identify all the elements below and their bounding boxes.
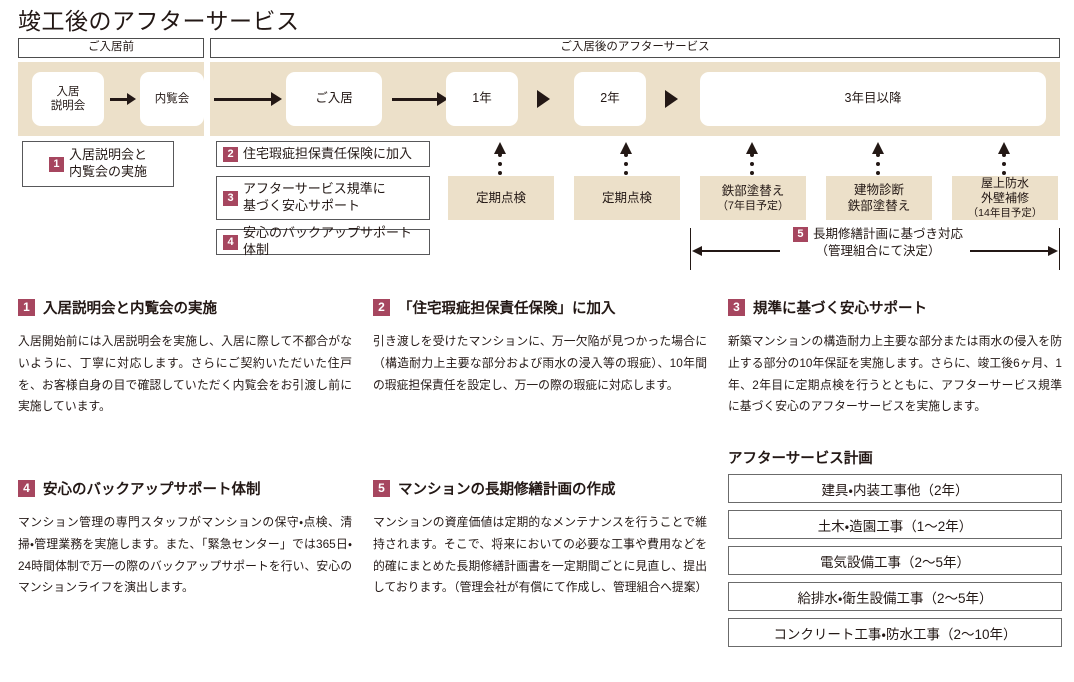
callout-text-1: 入居説明会と 内覧会の実施 [69, 147, 147, 181]
article-badge-4: 4 [18, 480, 35, 497]
article-5-heading: 5 マンションの長期修繕計画の作成 [373, 478, 707, 499]
timeline-node-move-in: ご入居 [286, 72, 382, 126]
span-badge-5: 5 [793, 227, 808, 242]
timeline-node-year-3-plus: 3年目以降 [700, 72, 1046, 126]
triangle-year1-to-year2 [537, 90, 550, 108]
article-1-heading-text: 入居説明会と内覧会の実施 [43, 297, 217, 318]
span-label-line1: 長期修繕計画に基づき対応 [813, 226, 963, 243]
callout-text-3: アフターサービス規準に 基づく安心サポート [243, 181, 386, 215]
maintenance-box-periodic-2: 定期点検 [574, 176, 680, 220]
article-3-heading: 3 規準に基づく安心サポート [728, 297, 1062, 318]
callout-badge-1: 1 [49, 157, 64, 172]
maintenance-box-diagnosis: 建物診断 鉄部塗替え [826, 176, 932, 220]
arrow-move-in-to-year1 [392, 93, 448, 105]
dotted-arrow-diagnosis [872, 142, 884, 176]
timeline-node-preview: 内覧会 [140, 72, 204, 126]
article-4: 4 安心のバックアップサポート体制 マンション管理の専門スタッフがマンションの保… [18, 478, 352, 599]
maintenance-box-roof-wall: 屋上防水 外壁補修 （14年目予定） [952, 176, 1058, 220]
article-1: 1 入居説明会と内覧会の実施 入居開始前には入居説明会を実施し、入居に際して不都… [18, 297, 352, 418]
maintenance-box-steel-repaint: 鉄部塗替え （7年目予定） [700, 176, 806, 220]
dotted-arrow-periodic-2 [620, 142, 632, 176]
long-term-repair-span: 5 長期修繕計画に基づき対応 （管理組合にて決定） [690, 228, 1060, 270]
article-5-body: マンションの資産価値は定期的なメンテナンスを行うことで維持されます。そこで、将来… [373, 512, 707, 599]
article-3: 3 規準に基づく安心サポート 新築マンションの構造耐力上主要な部分または雨水の侵… [728, 297, 1062, 418]
callout-badge-4: 4 [223, 235, 238, 250]
article-1-body: 入居開始前には入居説明会を実施し、入居に際して不都合がないように、丁寧に対応しま… [18, 331, 352, 418]
phase-header-bar: ご入居前 ご入居後のアフターサービス [18, 38, 1060, 58]
arrow-preview-to-move-in [214, 93, 282, 105]
timeline-node-year-2: 2年 [574, 72, 646, 126]
callout-badge-2: 2 [223, 147, 238, 162]
page-title: 竣工後のアフターサービス [18, 2, 300, 36]
arrow-briefing-to-preview [110, 93, 136, 105]
article-5-heading-text: マンションの長期修繕計画の作成 [398, 478, 616, 499]
span-tick-left [690, 228, 691, 270]
article-4-heading: 4 安心のバックアップサポート体制 [18, 478, 352, 499]
article-2-heading: 2 「住宅瑕疵担保責任保険」に加入 [373, 297, 707, 318]
dotted-arrow-periodic-1 [494, 142, 506, 176]
triangle-year2-to-year3 [665, 90, 678, 108]
article-2-body: 引き渡しを受けたマンションに、万一欠陥が見つかった場合に（構造耐力上主要な部分お… [373, 331, 707, 396]
dotted-arrow-roof-wall [998, 142, 1010, 176]
plan-item-2: 電気設備工事（2〜5年） [728, 546, 1062, 575]
article-2-heading-text: 「住宅瑕疵担保責任保険」に加入 [398, 297, 616, 318]
timeline-node-year-1: 1年 [446, 72, 518, 126]
article-4-heading-text: 安心のバックアップサポート体制 [43, 478, 261, 499]
plan-item-4: コンクリート工事・防水工事（2〜10年） [728, 618, 1062, 647]
callout-box-1: 1 入居説明会と 内覧会の実施 [22, 141, 174, 187]
callout-box-4: 4 安心のバックアップサポート体制 [216, 229, 430, 255]
article-badge-1: 1 [18, 299, 35, 316]
timeline-node-briefing: 入居 説明会 [32, 72, 104, 126]
callout-badge-3: 3 [223, 191, 238, 206]
article-badge-5: 5 [373, 480, 390, 497]
article-badge-3: 3 [728, 299, 745, 316]
span-tick-right [1059, 228, 1060, 270]
span-label-line2: （管理組合にて決定） [768, 243, 988, 260]
callout-text-2: 住宅瑕疵担保責任保険に加入 [243, 146, 412, 163]
phase-label-post-move-in: ご入居後のアフターサービス [210, 38, 1060, 58]
article-4-body: マンション管理の専門スタッフがマンションの保守・点検、清掃・管理業務を実施します… [18, 512, 352, 599]
article-3-body: 新築マンションの構造耐力上主要な部分または雨水の侵入を防止する部分の10年保証を… [728, 331, 1062, 418]
callout-box-2: 2 住宅瑕疵担保責任保険に加入 [216, 141, 430, 167]
plan-item-1: 土木・造園工事（1〜2年） [728, 510, 1062, 539]
callout-text-4: 安心のバックアップサポート体制 [243, 225, 423, 259]
article-3-heading-text: 規準に基づく安心サポート [753, 297, 927, 318]
maintenance-box-periodic-1: 定期点検 [448, 176, 554, 220]
article-2: 2 「住宅瑕疵担保責任保険」に加入 引き渡しを受けたマンションに、万一欠陥が見つ… [373, 297, 707, 396]
callout-box-3: 3 アフターサービス規準に 基づく安心サポート [216, 176, 430, 220]
plan-title: アフターサービス計画 [728, 447, 873, 468]
span-label: 5 長期修繕計画に基づき対応 （管理組合にて決定） [768, 226, 988, 260]
article-5: 5 マンションの長期修繕計画の作成 マンションの資産価値は定期的なメンテナンスを… [373, 478, 707, 599]
plan-list: 建具・内装工事他（2年） 土木・造園工事（1〜2年） 電気設備工事（2〜5年） … [728, 474, 1062, 654]
timeline-band: 入居 説明会 内覧会 ご入居 1年 2年 3年目以降 [18, 62, 1060, 136]
article-1-heading: 1 入居説明会と内覧会の実施 [18, 297, 352, 318]
span-arrow-left [692, 246, 780, 255]
plan-item-0: 建具・内装工事他（2年） [728, 474, 1062, 503]
plan-item-3: 給排水・衛生設備工事（2〜5年） [728, 582, 1062, 611]
article-badge-2: 2 [373, 299, 390, 316]
phase-label-pre-move-in: ご入居前 [18, 38, 204, 58]
dotted-arrow-steel-repaint [746, 142, 758, 176]
